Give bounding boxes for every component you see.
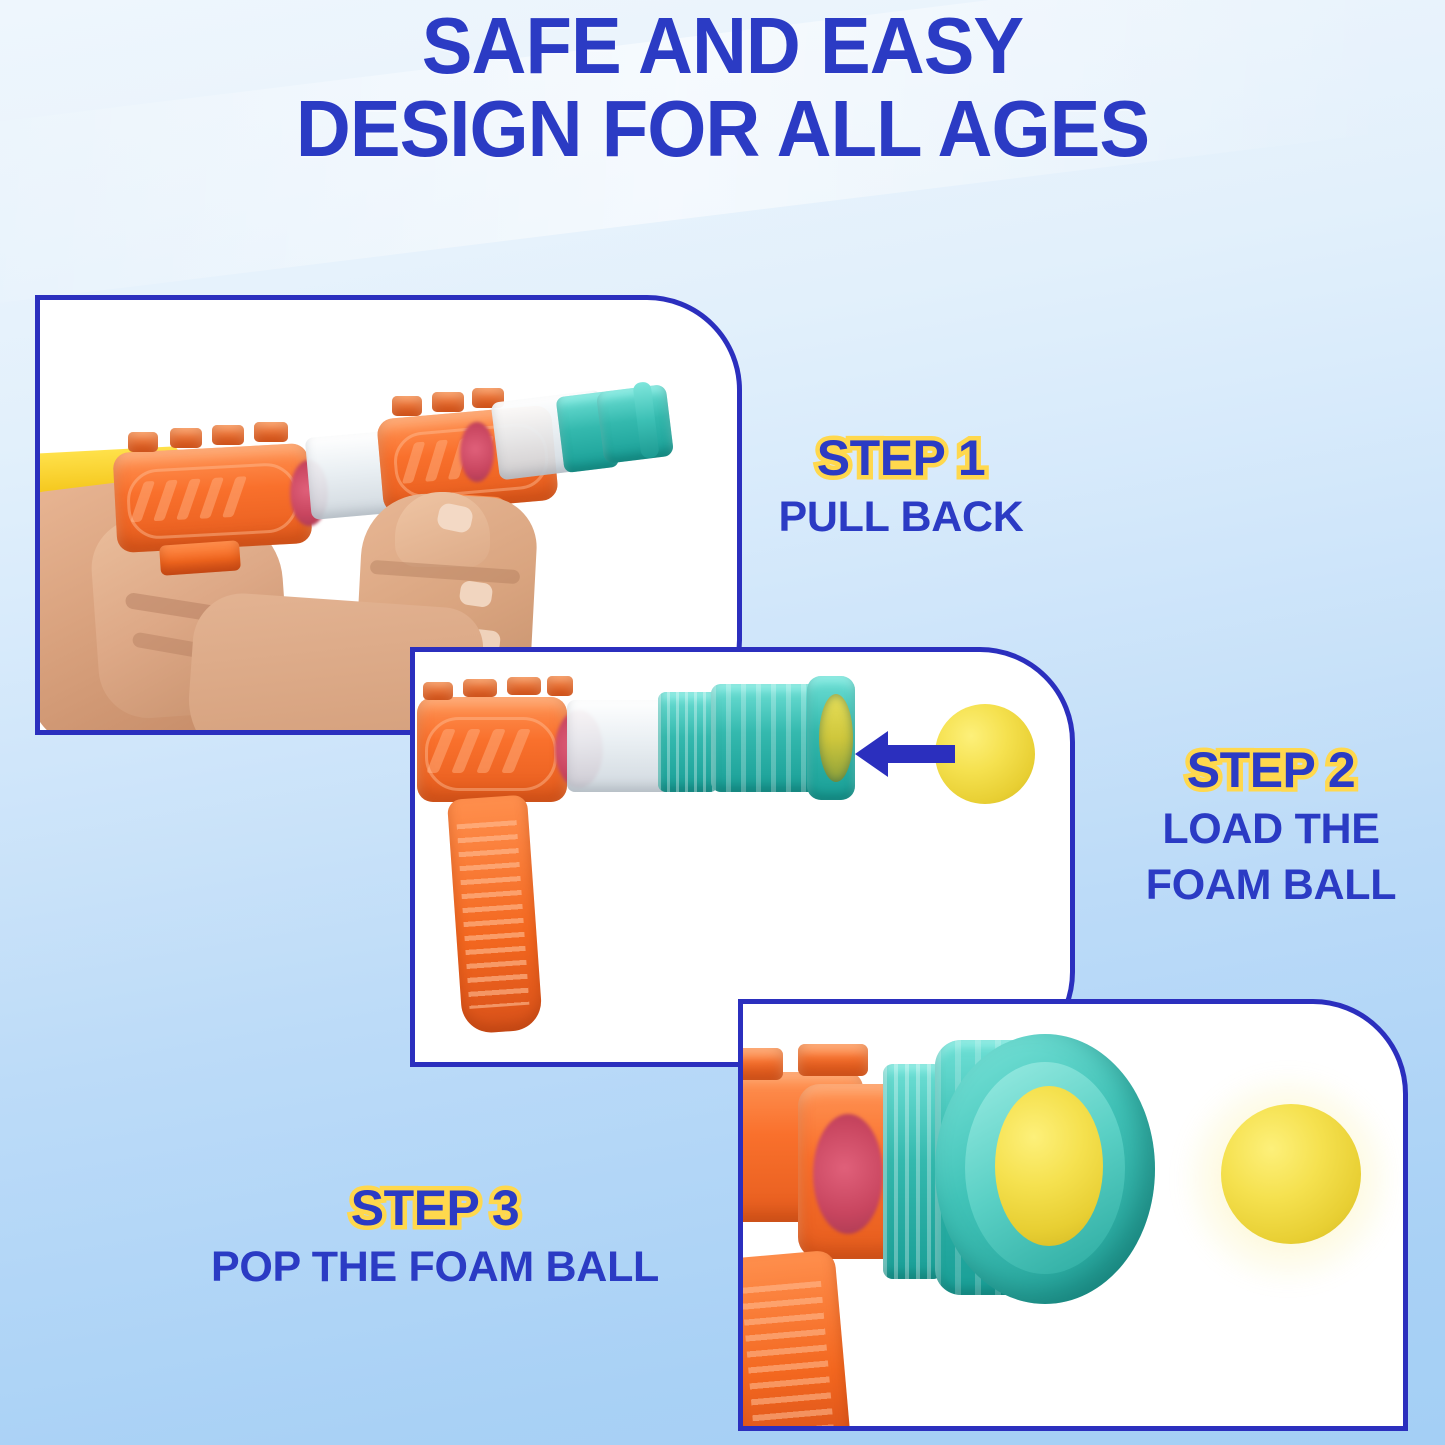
front-red-plunger bbox=[460, 422, 494, 482]
step-3-title: STEP 3 bbox=[150, 1182, 720, 1235]
step-2-label: STEP 2 LOAD THE FOAM BALL bbox=[1096, 744, 1445, 908]
step-3-label: STEP 3 POP THE FOAM BALL bbox=[150, 1182, 720, 1291]
page-title: SAFE AND EASY DESIGN FOR ALL AGES bbox=[0, 4, 1445, 170]
arrow-left-icon bbox=[855, 724, 955, 784]
step-1-title: STEP 1 bbox=[716, 432, 1086, 485]
headline-line-1: SAFE AND EASY bbox=[36, 4, 1409, 87]
step-2-description-line-1: LOAD THE bbox=[1096, 807, 1445, 853]
step-3-photo bbox=[743, 1004, 1403, 1426]
right-thumb bbox=[395, 492, 490, 567]
orange-body bbox=[417, 697, 567, 802]
grip-ridges bbox=[741, 1281, 835, 1431]
teal-ribbed-barrel bbox=[711, 684, 821, 792]
teal-threaded-collar bbox=[658, 692, 718, 792]
infographic-stage: SAFE AND EASY DESIGN FOR ALL AGES bbox=[0, 0, 1445, 1445]
step-1-label: STEP 1 PULL BACK bbox=[716, 432, 1086, 541]
foam-ball-in-muzzle bbox=[995, 1086, 1103, 1246]
step-3-description: POP THE FOAM BALL bbox=[150, 1245, 720, 1291]
headline-line-2: DESIGN FOR ALL AGES bbox=[36, 87, 1409, 170]
rear-orange-body bbox=[113, 443, 313, 553]
red-plunger bbox=[813, 1114, 883, 1234]
muzzle-opening bbox=[819, 694, 853, 782]
teal-threaded-collar bbox=[883, 1064, 943, 1279]
grip-ridges bbox=[457, 820, 530, 1009]
step-3-photo-panel bbox=[738, 999, 1408, 1431]
foam-ball-in-flight bbox=[1221, 1104, 1361, 1244]
step-2-title: STEP 2 bbox=[1096, 744, 1445, 797]
step-1-description: PULL BACK bbox=[716, 495, 1086, 541]
fingernail-1 bbox=[458, 580, 493, 608]
step-2-description-line-2: FOAM BALL bbox=[1096, 863, 1445, 909]
rear-trigger bbox=[159, 540, 241, 576]
